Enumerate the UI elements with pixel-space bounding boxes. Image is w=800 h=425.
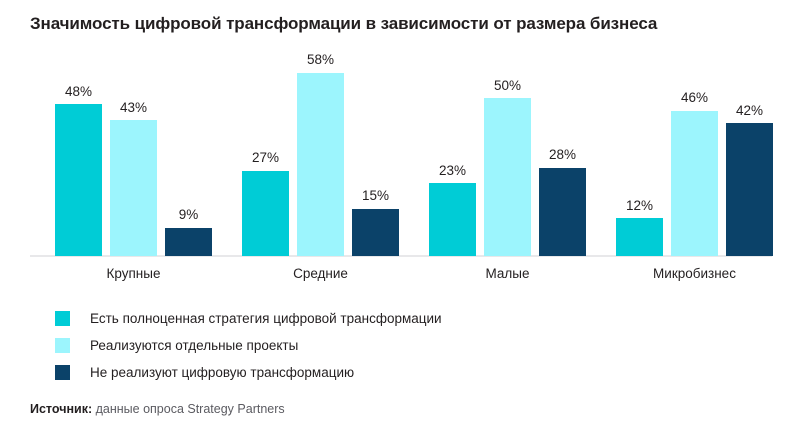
source-note: Источник: данные опроса Strategy Partner…	[30, 402, 285, 416]
bar-2-2: 58%	[297, 73, 344, 256]
bar-rect	[484, 98, 531, 256]
source-text: данные опроса Strategy Partners	[92, 402, 285, 416]
bar-rect	[165, 228, 212, 256]
bar-value-label: 43%	[120, 101, 147, 115]
legend-item-1[interactable]: Есть полноценная стратегия цифровой тран…	[55, 305, 442, 332]
bar-rect	[242, 171, 289, 256]
bar-value-label: 12%	[626, 199, 653, 213]
legend-swatch-icon	[55, 311, 70, 326]
bar-value-label: 15%	[362, 189, 389, 203]
bar-value-label: 48%	[65, 85, 92, 99]
bar-rect	[616, 218, 663, 256]
bar-value-label: 23%	[439, 164, 466, 178]
bar-rect	[55, 104, 102, 256]
bar-value-label: 42%	[736, 104, 763, 118]
bar-value-label: 46%	[681, 91, 708, 105]
bar-4-1: 12%	[616, 218, 663, 256]
bar-value-label: 28%	[549, 148, 576, 162]
bar-chart-plot-area: 48%43%9%27%58%15%23%50%28%12%46%42% Круп…	[0, 0, 800, 262]
legend-item-label: Реализуются отдельные проекты	[90, 338, 298, 353]
bar-value-label: 50%	[494, 79, 521, 93]
bar-3-2: 50%	[484, 98, 531, 256]
bar-4-3: 42%	[726, 123, 773, 256]
bar-2-1: 27%	[242, 171, 289, 256]
source-label: Источник:	[30, 402, 92, 416]
legend-item-2[interactable]: Реализуются отдельные проекты	[55, 332, 442, 359]
bar-rect	[429, 183, 476, 256]
legend-item-label: Есть полноценная стратегия цифровой тран…	[90, 311, 442, 326]
bar-value-label: 27%	[252, 151, 279, 165]
bar-3-1: 23%	[429, 183, 476, 256]
bar-rect	[352, 209, 399, 256]
bar-1-2: 43%	[110, 120, 157, 256]
category-label-1: Крупные	[107, 266, 161, 281]
bar-value-label: 9%	[179, 208, 199, 222]
bar-rect	[297, 73, 344, 256]
bar-2-3: 15%	[352, 209, 399, 256]
legend-item-label: Не реализуют цифровую трансформацию	[90, 365, 354, 380]
bar-1-3: 9%	[165, 228, 212, 256]
category-label-4: Микробизнес	[653, 266, 736, 281]
bar-4-2: 46%	[671, 111, 718, 256]
bar-rect	[110, 120, 157, 256]
bar-1-1: 48%	[55, 104, 102, 256]
bar-rect	[726, 123, 773, 256]
legend-item-3[interactable]: Не реализуют цифровую трансформацию	[55, 359, 442, 386]
bar-rect	[539, 168, 586, 256]
chart-legend: Есть полноценная стратегия цифровой тран…	[55, 305, 442, 386]
legend-swatch-icon	[55, 338, 70, 353]
bar-rect	[671, 111, 718, 256]
legend-swatch-icon	[55, 365, 70, 380]
bar-3-3: 28%	[539, 168, 586, 256]
category-label-2: Средние	[293, 266, 348, 281]
bar-value-label: 58%	[307, 53, 334, 67]
category-label-3: Малые	[486, 266, 530, 281]
